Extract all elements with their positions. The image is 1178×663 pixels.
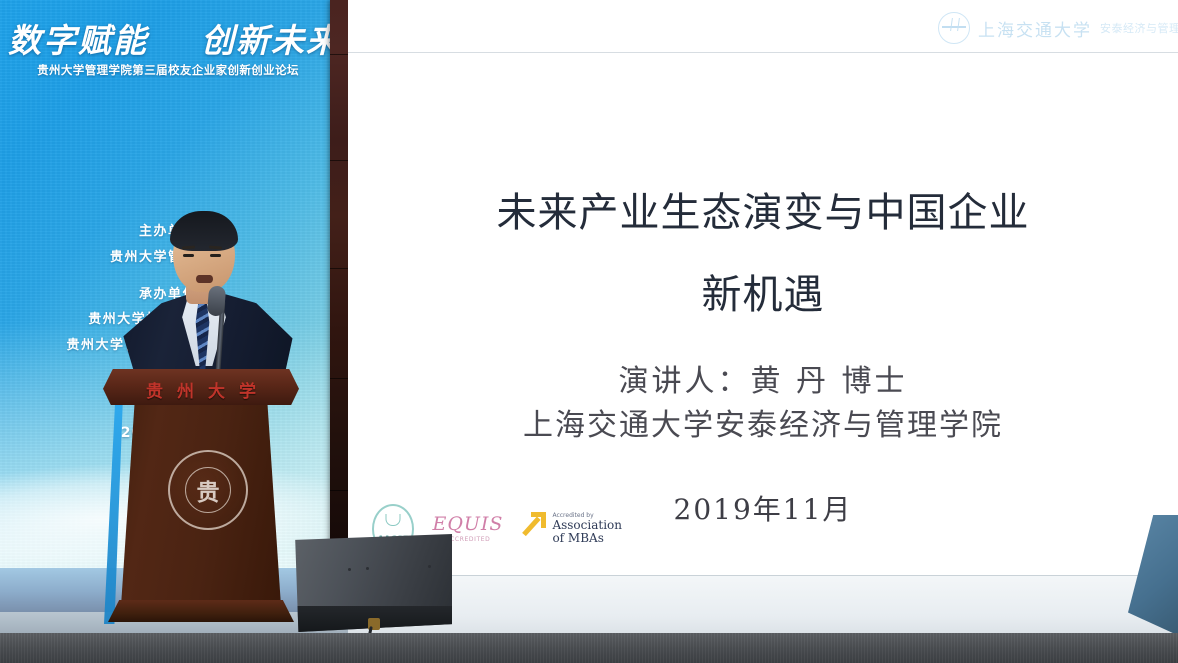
banner-organizer-heading: 主办单位	[0, 220, 336, 239]
stage-baseboard	[348, 576, 1178, 633]
sjtu-seal-icon	[938, 12, 970, 44]
sjtu-logo: 上海交通大学 安泰经济与管理学院	[938, 8, 1178, 48]
guizhou-university-crest-icon: 贵	[168, 450, 248, 530]
speaker-eye-left	[183, 254, 194, 257]
banner-headline-part1: 数字赋能	[8, 21, 148, 60]
amba-label-2: of MBAs	[552, 532, 622, 545]
amba-text-block: Accredited by Association of MBAs	[552, 513, 622, 545]
banner-cohost-heading: 承办单位	[0, 283, 336, 302]
sjtu-university-name: 上海交通大学	[978, 16, 1092, 41]
amba-arrow-icon	[521, 512, 547, 546]
banner-headline-part2: 创新未来	[201, 21, 341, 60]
stage-carpet	[0, 633, 1178, 663]
equis-sublabel: ACCREDITED	[446, 537, 491, 543]
crest-character: 贵	[185, 467, 231, 513]
slide-title-line-1: 未来产业生态演变与中国企业	[348, 180, 1178, 238]
amba-logo: Accredited by Association of MBAs	[521, 512, 622, 546]
banner-organizer-name: 贵州大学管理学院	[0, 246, 336, 265]
banner-headline: 数字赋能 创新未来	[8, 14, 328, 62]
sjtu-school-name: 安泰经济与管理学院	[1100, 20, 1178, 36]
slide-affiliation-line: 上海交通大学安泰经济与管理学院	[348, 400, 1178, 444]
speaker-mouth	[196, 275, 213, 283]
podium-wordmark: 贵州大学	[103, 377, 299, 402]
aacsb-torch-icon	[386, 514, 401, 526]
presentation-photo-scene: 数字赋能 创新未来 贵州大学管理学院第三届校友企业家创新创业论坛 主办单位 贵州…	[0, 0, 1178, 663]
podium-base	[108, 600, 294, 622]
banner-subtitle: 贵州大学管理学院第三届校友企业家创新创业论坛	[8, 62, 328, 78]
screen-top-edge	[348, 52, 1178, 53]
speaker-eye-right	[210, 254, 221, 257]
equis-label: EQUIS	[432, 515, 503, 534]
slide-presenter-line: 演讲人：黄 丹 博士	[348, 356, 1178, 400]
slide-title-line-2: 新机遇	[348, 262, 1178, 320]
